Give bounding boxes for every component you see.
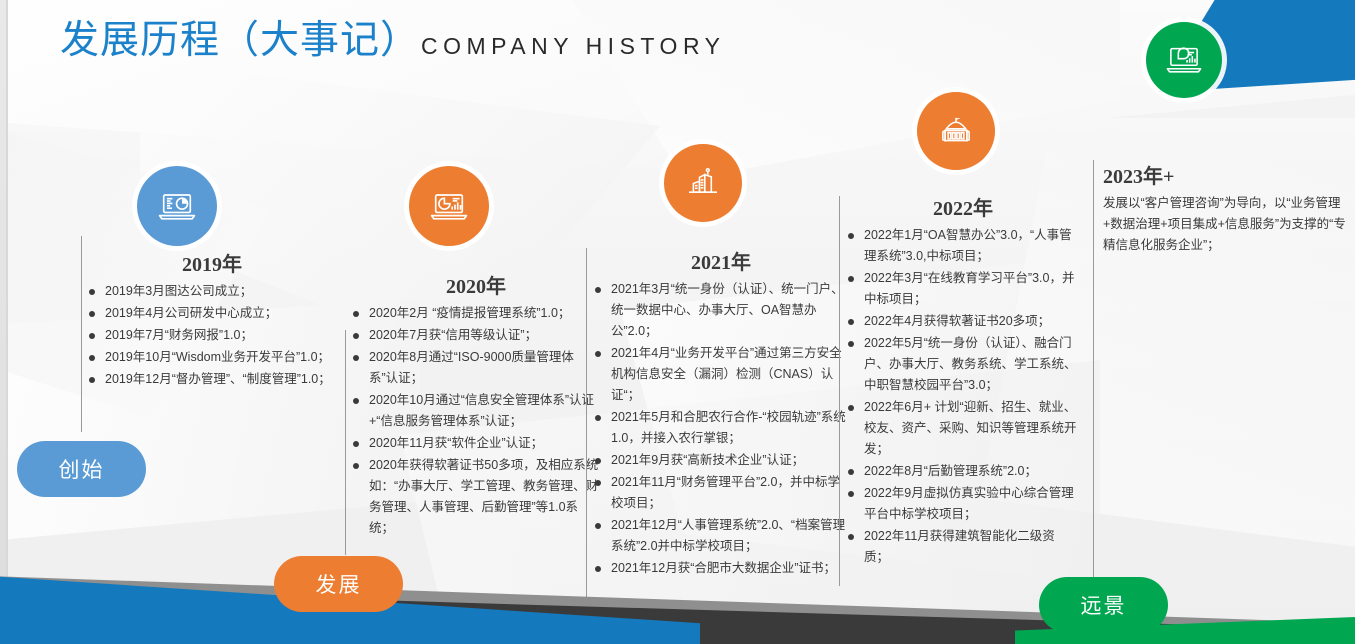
- list-item: 2019年4月公司研发中心成立；: [88, 303, 336, 324]
- column-year-label: 2022年: [847, 192, 1079, 221]
- stage-label-founding[interactable]: 创始: [17, 441, 146, 497]
- list-item: 2022年11月获得建筑智能化二级资质；: [847, 526, 1079, 568]
- list-item: 2022年5月“统一身份（认证）、融合门户、办事大厅、教务系统、学工系统、中职智…: [847, 333, 1079, 396]
- list-item: 2022年8月“后勤管理系统”2.0；: [847, 461, 1079, 482]
- column-divider: [1093, 160, 1094, 585]
- stage-label-text: 创始: [59, 454, 105, 484]
- list-item: 2019年7月“财务网报”1.0；: [88, 325, 336, 346]
- laptop-analytics-icon: [1163, 39, 1205, 81]
- stage-label-text: 发展: [316, 569, 362, 599]
- list-item: 2021年11月“财务管理平台”2.0，并中标学校项目；: [594, 472, 848, 514]
- list-item: 2022年4月获得软著证书20多项；: [847, 311, 1079, 332]
- laptop-analytics-icon-badge: [1146, 22, 1222, 98]
- laptop-pie-chart-icon: [155, 184, 199, 228]
- column-2021: 2021年 2021年3月“统一身份（认证）、统一门户、统一数据中心、办事大厅、…: [594, 246, 848, 580]
- list-item: 2020年2月 “疫情提报管理系统”1.0；: [352, 303, 600, 324]
- column-icon-2021: [664, 144, 742, 222]
- list-item: 2021年12月获“合肥市大数据企业”证书；: [594, 558, 848, 579]
- column-divider: [81, 236, 82, 432]
- list-item: 2021年5月和合肥农行合作-“校园轨迹”系统1.0，并接入农行掌银；: [594, 407, 848, 449]
- government-building-icon: [935, 110, 977, 152]
- column-2022: 2022年 2022年1月“OA智慧办公”3.0，“人事管理系统”3.0,中标项…: [847, 192, 1079, 569]
- list-item: 2021年12月“人事管理系统”2.0、“档案管理系统”2.0并中标学校项目；: [594, 515, 848, 557]
- list-item: 2019年3月图达公司成立；: [88, 281, 336, 302]
- column-items-2022: 2022年1月“OA智慧办公”3.0，“人事管理系统”3.0,中标项目； 202…: [847, 225, 1079, 568]
- column-divider: [839, 196, 840, 586]
- list-item: 2019年12月“督办管理”、“制度管理”1.0；: [88, 369, 336, 390]
- column-year-label: 2023年+: [1103, 160, 1349, 189]
- column-items-2021: 2021年3月“统一身份（认证）、统一门户、统一数据中心、办事大厅、OA智慧办公…: [594, 279, 848, 579]
- column-divider: [345, 330, 346, 555]
- laptop-chart-icon: [427, 184, 471, 228]
- list-item: 2020年获得软著证书50多项，及相应系统如：“办事大厅、学工管理、教务管理、财…: [352, 455, 600, 539]
- column-2020: 2020年 2020年2月 “疫情提报管理系统”1.0； 2020年7月获“信用…: [352, 270, 600, 540]
- list-item: 2021年9月获“高新技术企业”认证；: [594, 450, 848, 471]
- list-item: 2022年6月+ 计划“迎新、招生、就业、校友、资产、采购、知识等管理系统开发；: [847, 397, 1079, 460]
- list-item: 2021年3月“统一身份（认证）、统一门户、统一数据中心、办事大厅、OA智慧办公…: [594, 279, 848, 342]
- list-item: 2022年9月虚拟仿真实验中心综合管理平台中标学校项目；: [847, 483, 1079, 525]
- column-2019: 2019年 2019年3月图达公司成立； 2019年4月公司研发中心成立； 20…: [88, 248, 336, 391]
- list-item: 2020年11月获“软件企业”认证；: [352, 433, 600, 454]
- stage-label-vision[interactable]: 远景: [1039, 577, 1168, 633]
- column-items-2019: 2019年3月图达公司成立； 2019年4月公司研发中心成立； 2019年7月“…: [88, 281, 336, 390]
- left-edge-strip: [6, 0, 8, 644]
- page-title-en: COMPANY HISTORY: [421, 35, 725, 60]
- page-title: 发展历程（大事记） COMPANY HISTORY: [60, 6, 725, 60]
- list-item: 2020年10月通过“信息安全管理体系”认证+“信息服务管理体系”认证；: [352, 390, 600, 432]
- list-item: 2022年3月“在线教育学习平台”3.0，并中标项目；: [847, 268, 1079, 310]
- column-divider: [586, 248, 587, 608]
- stage-label-text: 远景: [1081, 590, 1127, 620]
- column-year-label: 2021年: [594, 246, 848, 275]
- stage-label-development[interactable]: 发展: [274, 556, 403, 612]
- column-items-2020: 2020年2月 “疫情提报管理系统”1.0； 2020年7月获“信用等级认证”；…: [352, 303, 600, 539]
- list-item: 2020年7月获“信用等级认证”；: [352, 325, 600, 346]
- column-paragraph: 发展以“客户管理咨询”为导向，以“业务管理+数据治理+项目集成+信息服务”为支撑…: [1103, 193, 1349, 256]
- column-year-label: 2020年: [352, 270, 600, 299]
- slide-canvas: 发展历程（大事记） COMPANY HISTORY 2019: [0, 0, 1355, 644]
- column-year-label: 2019年: [88, 248, 336, 277]
- column-icon-2022: [917, 92, 995, 170]
- column-icon-2020: [409, 166, 489, 246]
- column-icon-2019: [137, 166, 217, 246]
- list-item: 2020年8月通过“ISO-9000质量管理体系”认证；: [352, 347, 600, 389]
- page-title-cn: 发展历程（大事记）: [60, 21, 420, 60]
- list-item: 2022年1月“OA智慧办公”3.0，“人事管理系统”3.0,中标项目；: [847, 225, 1079, 267]
- city-buildings-icon: [682, 162, 724, 204]
- column-2023: 2023年+ 发展以“客户管理咨询”为导向，以“业务管理+数据治理+项目集成+信…: [1103, 160, 1349, 256]
- list-item: 2021年4月“业务开发平台”通过第三方安全机构信息安全（漏洞）检测（CNAS）…: [594, 343, 848, 406]
- list-item: 2019年10月“Wisdom业务开发平台”1.0；: [88, 347, 336, 368]
